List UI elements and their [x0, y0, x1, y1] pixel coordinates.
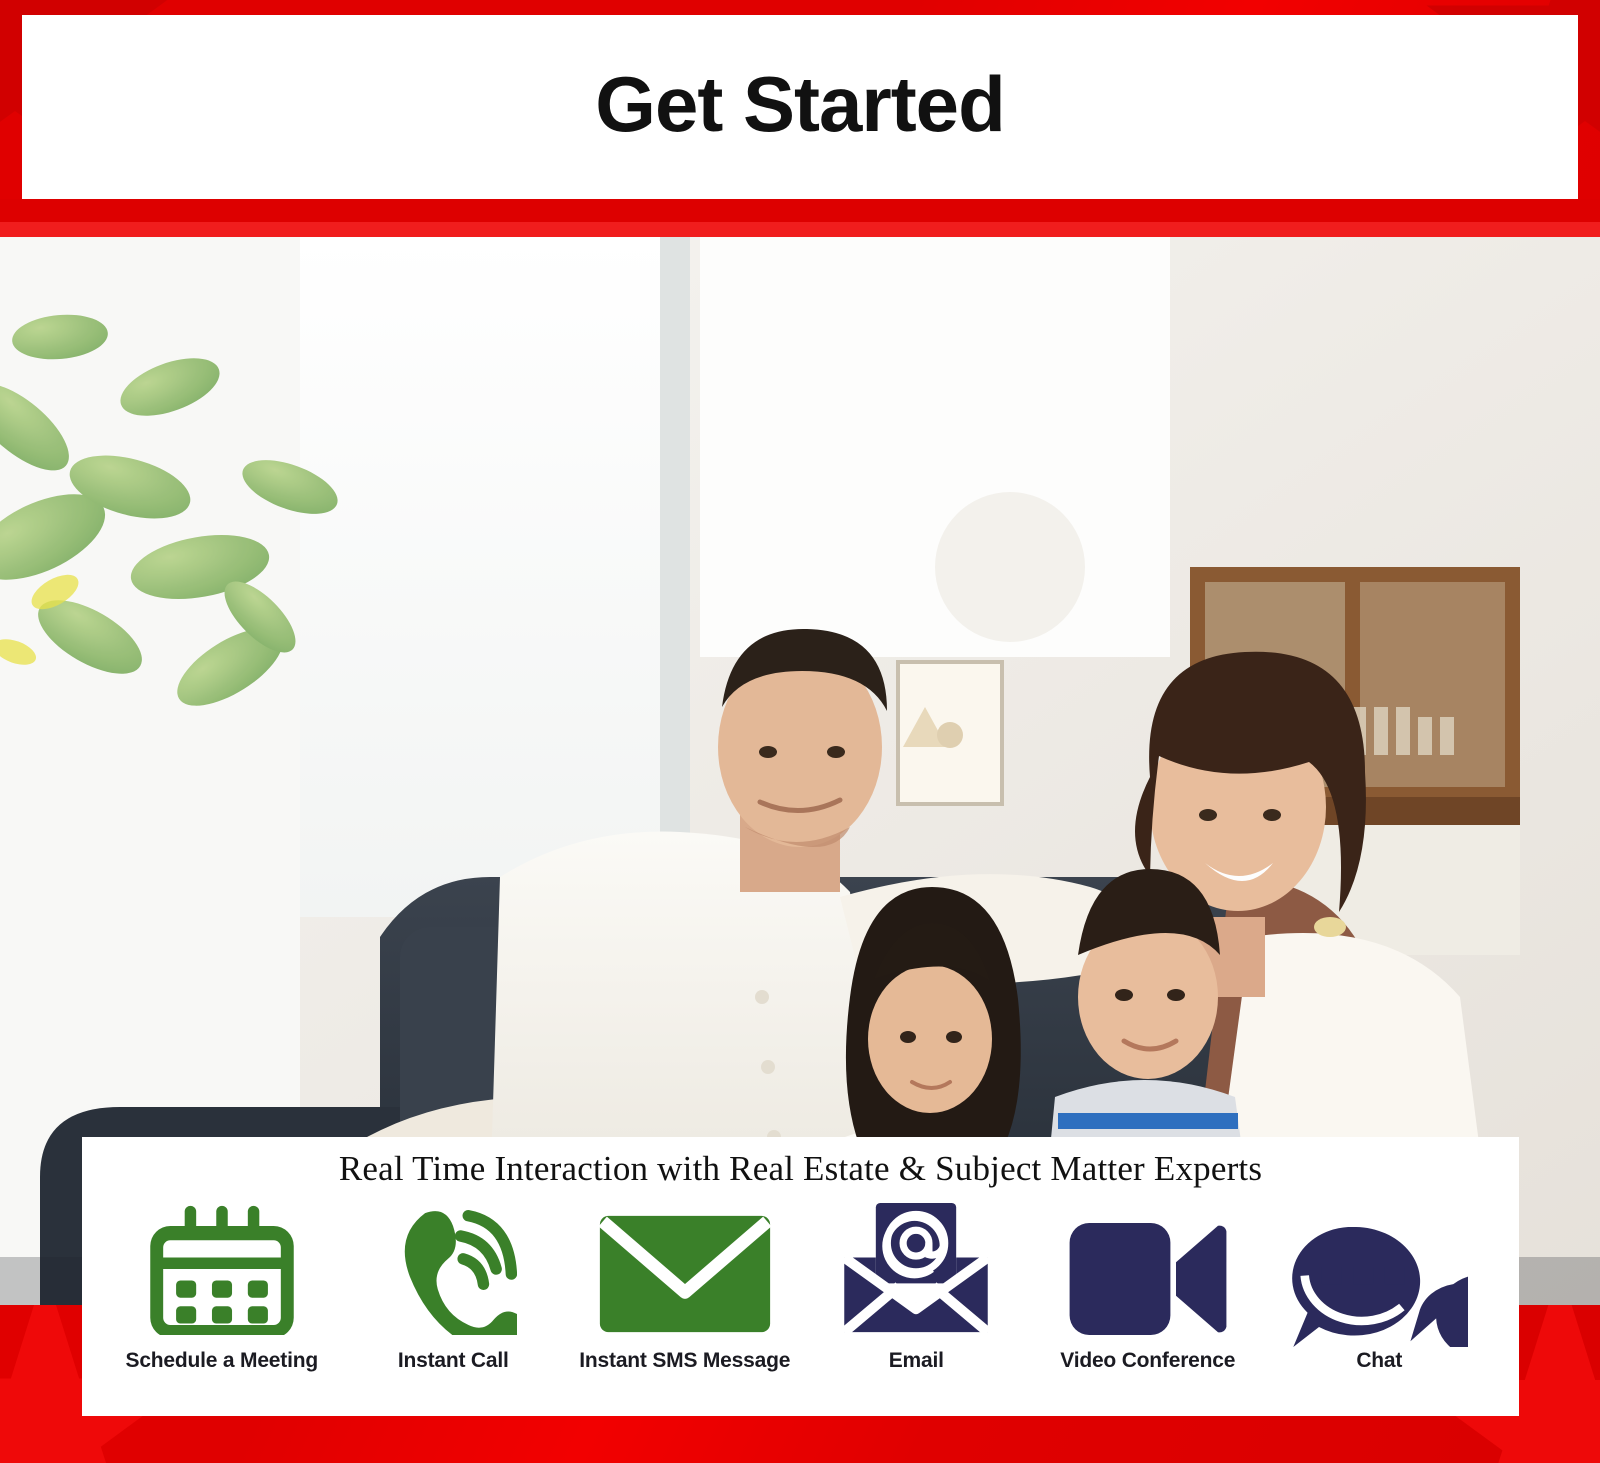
contact-option-instant-call[interactable]: Instant Call [338, 1203, 570, 1373]
email-at-icon [841, 1203, 991, 1335]
slide-root: Get Started [0, 0, 1600, 1463]
calendar-icon [147, 1203, 297, 1335]
header-card: Get Started [22, 15, 1578, 199]
contact-option-label: Email [889, 1349, 944, 1373]
page-title: Get Started [595, 65, 1004, 149]
contact-option-email[interactable]: Email [801, 1203, 1033, 1373]
contact-option-schedule-a-meeting[interactable]: Schedule a Meeting [106, 1203, 338, 1373]
contact-icon-row: Schedule a Meeting Instant Call [82, 1189, 1519, 1373]
contact-card: Real Time Interaction with Real Estate &… [82, 1137, 1519, 1416]
video-camera-icon [1069, 1203, 1227, 1335]
contact-option-label: Video Conference [1060, 1349, 1235, 1373]
contact-option-label: Schedule a Meeting [126, 1349, 318, 1373]
contact-tagline: Real Time Interaction with Real Estate &… [82, 1149, 1519, 1189]
contact-option-label: Instant SMS Message [579, 1349, 790, 1373]
contact-option-chat[interactable]: Chat [1264, 1227, 1496, 1373]
contact-option-instant-sms-message[interactable]: Instant SMS Message [569, 1203, 801, 1373]
phone-ringing-icon [389, 1203, 517, 1335]
contact-option-label: Instant Call [398, 1349, 509, 1373]
envelope-icon [599, 1203, 771, 1335]
contact-option-video-conference[interactable]: Video Conference [1032, 1203, 1264, 1373]
chat-bubbles-icon [1290, 1227, 1468, 1347]
contact-option-label: Chat [1356, 1349, 1402, 1373]
divider-band-dark [0, 199, 1600, 222]
